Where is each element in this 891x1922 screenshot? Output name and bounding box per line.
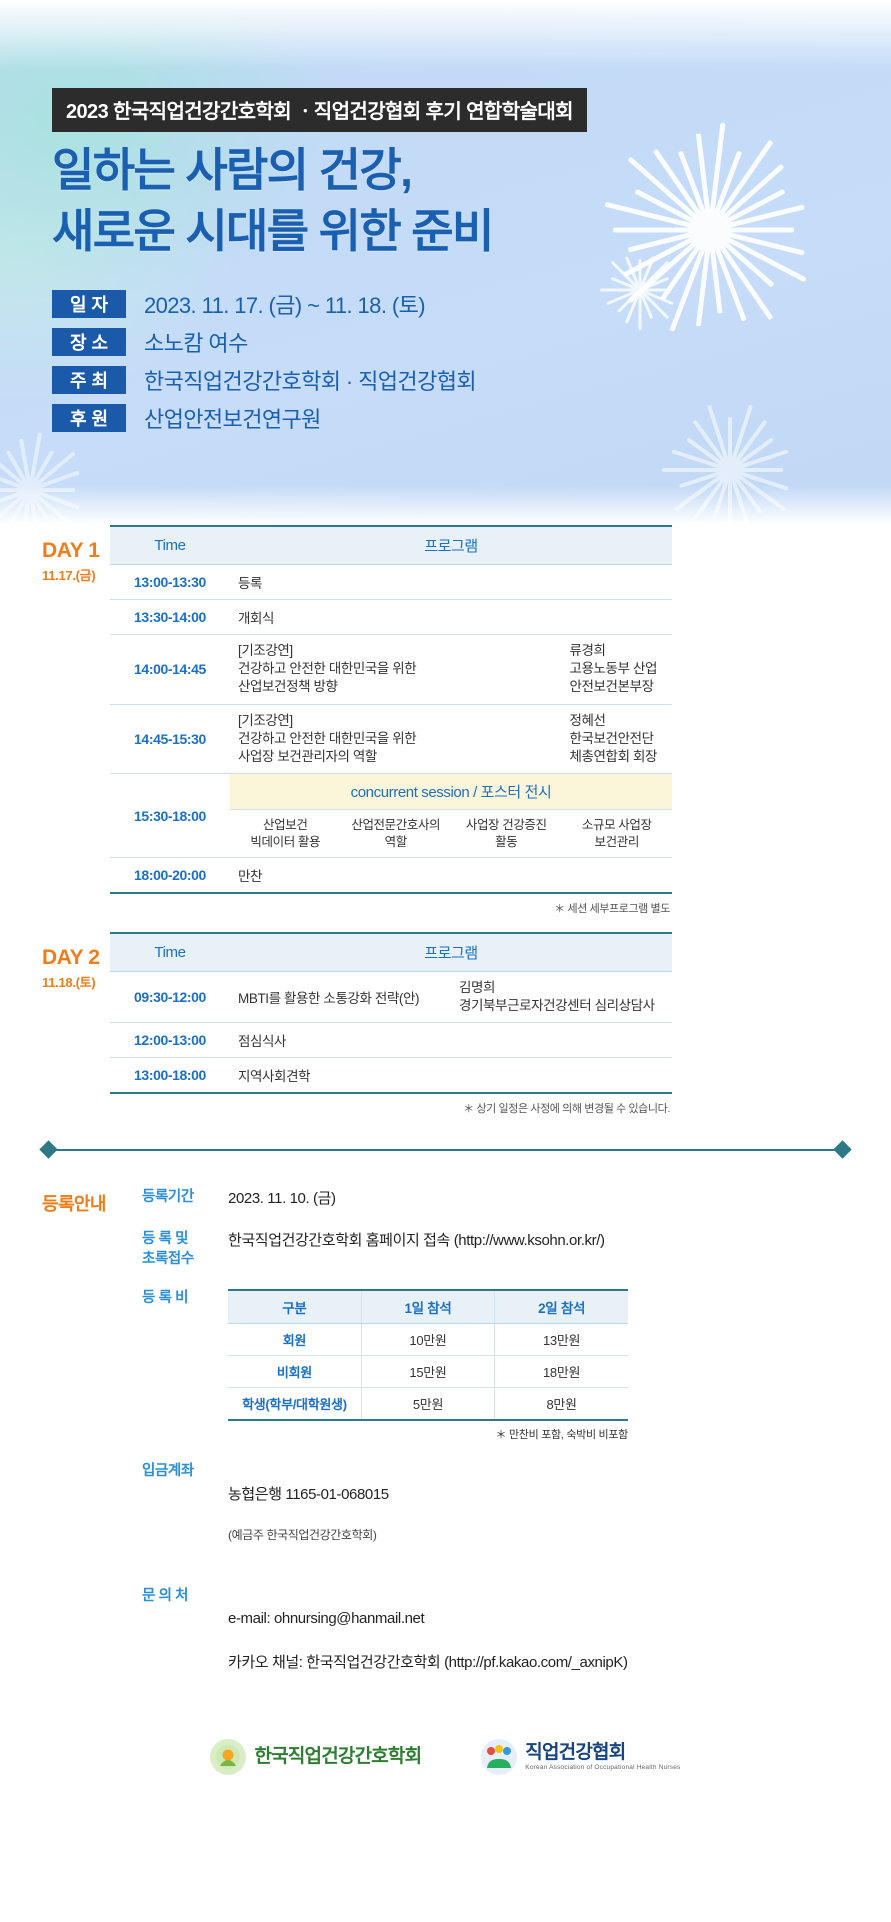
info-value-venue: 소노캄 여수 xyxy=(144,326,248,358)
fee-row0-category: 회원 xyxy=(228,1324,361,1356)
day2-program-0: MBTI를 활용한 소통강화 전략(안) xyxy=(230,971,451,1022)
registration-period-item: 등록기간 2023. 11. 10. (금) xyxy=(142,1188,851,1210)
contact-label: 문 의 처 xyxy=(142,1587,228,1607)
schedule-day2: DAY 2 11.18.(토) Time 프로그램 09:30-12:00 MB… xyxy=(0,932,891,1116)
info-tag-date: 일 자 xyxy=(52,290,126,318)
event-name-bar: 2023 한국직업건강간호학회 ㆍ직업건강협회 후기 연합학술대회 xyxy=(52,88,587,132)
table-row: 비회원 15만원 18만원 xyxy=(228,1356,628,1388)
info-tag-sponsor: 후 원 xyxy=(52,404,126,432)
day1-col-time: Time xyxy=(110,526,230,565)
fee-row1-two-day: 18만원 xyxy=(495,1356,628,1388)
abstract-submission-label: 등 록 및 초록접수 xyxy=(142,1230,228,1269)
table-row: 회원 10만원 13만원 xyxy=(228,1324,628,1356)
day2-note: ＊ 상기 일정은 사정에 의해 변경될 수 있습니다. xyxy=(110,1094,672,1116)
table-row: 09:30-12:00 MBTI를 활용한 소통강화 전략(안) 김명희 경기북… xyxy=(110,971,672,1022)
footer-logos: 한국직업건강간호학회 직업건강협회 Korean Association of … xyxy=(0,1715,891,1795)
account-holder: (예금주 한국직업건강간호학회) xyxy=(228,1527,389,1544)
contact-kakao[interactable]: 카카오 채널: 한국직업건강간호학회 (http://pf.kakao.com/… xyxy=(228,1652,628,1674)
content-sheet: DAY 1 11.17.(금) Time 프로그램 13:00-13:30 등록 xyxy=(0,525,891,1805)
info-row-venue: 장 소 소노캄 여수 xyxy=(52,326,476,358)
day1-program-2: [기조강연] 건강하고 안전한 대한민국을 위한 산업보건정책 방향 xyxy=(230,635,562,705)
day2-col-program: 프로그램 xyxy=(230,933,672,972)
logo-ksohn: 한국직업건강간호학회 xyxy=(210,1739,421,1775)
fee-label: 등 록 비 xyxy=(142,1289,228,1309)
day2-note-spacer xyxy=(0,1094,110,1108)
abstract-submission-value[interactable]: 한국직업건강간호학회 홈페이지 접속 (http://www.ksohn.or.… xyxy=(228,1230,605,1252)
fee-row2-category: 학생(학부/대학원생) xyxy=(228,1388,361,1421)
fee-col-one-day: 1일 참석 xyxy=(361,1290,494,1324)
fee-row1-category: 비회원 xyxy=(228,1356,361,1388)
info-row-date: 일 자 2023. 11. 17. (금) ~ 11. 18. (토) xyxy=(52,288,476,320)
day1-col-program: 프로그램 xyxy=(230,526,672,565)
day1-program-3: [기조강연] 건강하고 안전한 대한민국을 위한 사업장 보건관리자의 역할 xyxy=(230,704,562,774)
info-tag-host: 주 최 xyxy=(52,366,126,394)
table-row: 14:45-15:30 [기조강연] 건강하고 안전한 대한민국을 위한 사업장… xyxy=(110,704,672,774)
table-row: 학생(학부/대학원생) 5만원 8만원 xyxy=(228,1388,628,1421)
diamond-left-icon xyxy=(39,1141,57,1159)
fee-row1-one-day: 15만원 xyxy=(361,1356,494,1388)
day2-date: 11.18.(토) xyxy=(42,972,110,991)
day2-program-1: 점심식사 xyxy=(230,1023,672,1058)
koha-emblem-icon xyxy=(481,1739,517,1775)
starburst-icon-large xyxy=(600,120,820,340)
fee-note: ＊ 만찬비 포함, 숙박비 비포함 xyxy=(228,1421,628,1442)
account-value-wrap: 농협은행 1165-01-068015 (예금주 한국직업건강간호학회) xyxy=(228,1462,389,1566)
registration-period-label: 등록기간 xyxy=(142,1188,228,1208)
fee-row2-two-day: 8만원 xyxy=(495,1388,628,1421)
day1-time-0: 13:00-13:30 xyxy=(110,565,230,600)
day2-time-0: 09:30-12:00 xyxy=(110,971,230,1022)
day1-session-3: 소규모 사업장 보건관리 xyxy=(562,810,673,858)
day1-speaker-3: 정혜선 한국보건안전단체총연합회 회장 xyxy=(562,704,673,774)
day1-note: ＊ 세션 세부프로그램 별도 xyxy=(110,894,672,916)
contact-item: 문 의 처 e-mail: ohnursing@hanmail.net 카카오 … xyxy=(142,1587,851,1696)
day1-time-2: 14:00-14:45 xyxy=(110,635,230,705)
day2-table: Time 프로그램 09:30-12:00 MBTI를 활용한 소통강화 전략(… xyxy=(110,932,672,1094)
table-row: 13:30-14:00 개회식 xyxy=(110,600,672,635)
koha-logo-sub: Korean Association of Occupational Healt… xyxy=(525,1765,680,1772)
schedule-day1: DAY 1 11.17.(금) Time 프로그램 13:00-13:30 등록 xyxy=(0,525,891,916)
day1-label: DAY 1 11.17.(금) xyxy=(0,525,110,584)
day2-header-row: Time 프로그램 xyxy=(110,933,672,972)
fee-table: 구분 1일 참석 2일 참석 회원 10만원 13만원 xyxy=(228,1289,628,1421)
day1-session-1: 산업전문간호사의 역할 xyxy=(341,810,452,858)
koha-logo-text: 직업건강협회 Korean Association of Occupationa… xyxy=(525,1743,680,1772)
hero-top-gradient xyxy=(0,0,891,70)
day1-table: Time 프로그램 13:00-13:30 등록 13:30-14:00 개회식… xyxy=(110,525,672,894)
day2-col-time: Time xyxy=(110,933,230,972)
day1-program-0: 등록 xyxy=(230,565,672,600)
registration-body: 등록기간 2023. 11. 10. (금) 등 록 및 초록접수 한국직업건강… xyxy=(142,1188,891,1715)
event-info-list: 일 자 2023. 11. 17. (금) ~ 11. 18. (토) 장 소 … xyxy=(52,288,476,440)
day1-date: 11.17.(금) xyxy=(42,565,110,584)
starburst-icon-small xyxy=(600,250,680,330)
info-tag-venue: 장 소 xyxy=(52,328,126,356)
day1-concurrent-banner: concurrent session / 포스터 전시 xyxy=(230,774,672,810)
abstract-submission-item: 등 록 및 초록접수 한국직업건강간호학회 홈페이지 접속 (http://ww… xyxy=(142,1230,851,1269)
info-row-host: 주 최 한국직업건강간호학회 · 직업건강협회 xyxy=(52,364,476,396)
table-row: 13:00-13:30 등록 xyxy=(110,565,672,600)
info-row-sponsor: 후 원 산업안전보건연구원 xyxy=(52,402,476,434)
day1-program-1: 개회식 xyxy=(230,600,672,635)
day2-time-2: 13:00-18:00 xyxy=(110,1058,230,1094)
day1-time-1: 13:30-14:00 xyxy=(110,600,230,635)
table-row: 13:00-18:00 지역사회견학 xyxy=(110,1058,672,1094)
registration-heading: 등록안내 xyxy=(42,1188,142,1715)
account-number: 농협은행 1165-01-068015 xyxy=(228,1484,389,1506)
contact-value-wrap: e-mail: ohnursing@hanmail.net 카카오 채널: 한국… xyxy=(228,1587,628,1696)
koha-logo-name: 직업건강협회 xyxy=(525,1743,680,1763)
hero-bottom-gradient xyxy=(0,485,891,525)
table-row: 14:00-14:45 [기조강연] 건강하고 안전한 대한민국을 위한 산업보… xyxy=(110,635,672,705)
day2-program-2: 지역사회견학 xyxy=(230,1058,672,1094)
hero-banner: 2023 한국직업건강간호학회 ㆍ직업건강협회 후기 연합학술대회 일하는 사람… xyxy=(0,0,891,525)
ksohn-emblem-icon xyxy=(210,1739,246,1775)
day1-header-row: Time 프로그램 xyxy=(110,526,672,565)
fee-row2-one-day: 5만원 xyxy=(361,1388,494,1421)
info-value-host: 한국직업건강간호학회 · 직업건강협회 xyxy=(144,364,476,396)
info-value-date: 2023. 11. 17. (금) ~ 11. 18. (토) xyxy=(144,288,425,320)
fee-col-category: 구분 xyxy=(228,1290,361,1324)
fee-item: 등 록 비 구분 1일 참석 2일 참석 회원 xyxy=(142,1289,851,1442)
day1-time-last: 18:00-20:00 xyxy=(110,857,230,893)
ksohn-logo-name: 한국직업건강간호학회 xyxy=(254,1747,421,1767)
diamond-right-icon xyxy=(833,1141,851,1159)
table-row: 18:00-20:00 만찬 xyxy=(110,857,672,893)
day2-speaker-0: 김명희 경기북부근로자건강센터 심리상담사 xyxy=(451,971,672,1022)
info-value-sponsor: 산업안전보건연구원 xyxy=(144,402,321,434)
day2-name: DAY 2 xyxy=(42,946,110,970)
registration-section: 등록안내 등록기간 2023. 11. 10. (금) 등 록 및 초록접수 한… xyxy=(0,1158,891,1715)
day2-time-1: 12:00-13:00 xyxy=(110,1023,230,1058)
account-item: 입금계좌 농협은행 1165-01-068015 (예금주 한국직업건강간호학회… xyxy=(142,1462,851,1566)
day1-concurrent-time: 15:30-18:00 xyxy=(110,774,230,858)
day1-name: DAY 1 xyxy=(42,539,110,563)
concurrent-banner-row: 15:30-18:00 concurrent session / 포스터 전시 xyxy=(110,774,672,810)
day1-speaker-2: 류경희 고용노동부 산업안전보건본부장 xyxy=(562,635,673,705)
day1-time-3: 14:45-15:30 xyxy=(110,704,230,774)
fee-row0-two-day: 13만원 xyxy=(495,1324,628,1356)
divider-line xyxy=(56,1149,835,1151)
contact-email[interactable]: e-mail: ohnursing@hanmail.net xyxy=(228,1608,628,1630)
day1-program-last: 만찬 xyxy=(230,857,672,893)
page-title: 일하는 사람의 건강, 새로운 시대를 위한 준비 xyxy=(52,140,493,261)
account-label: 입금계좌 xyxy=(142,1462,228,1482)
fee-header-row: 구분 1일 참석 2일 참석 xyxy=(228,1290,628,1324)
fee-col-two-day: 2일 참석 xyxy=(495,1290,628,1324)
day1-session-0: 산업보건 빅데이터 활용 xyxy=(230,810,341,858)
day1-note-spacer xyxy=(0,894,110,908)
registration-period-value: 2023. 11. 10. (금) xyxy=(228,1188,336,1210)
section-divider xyxy=(42,1142,849,1158)
day1-session-2: 사업장 건강증진 활동 xyxy=(451,810,562,858)
day2-label: DAY 2 11.18.(토) xyxy=(0,932,110,991)
fee-row0-one-day: 10만원 xyxy=(361,1324,494,1356)
ksohn-logo-text: 한국직업건강간호학회 xyxy=(254,1747,421,1767)
table-row: 12:00-13:00 점심식사 xyxy=(110,1023,672,1058)
logo-koha: 직업건강협회 Korean Association of Occupationa… xyxy=(481,1739,680,1775)
